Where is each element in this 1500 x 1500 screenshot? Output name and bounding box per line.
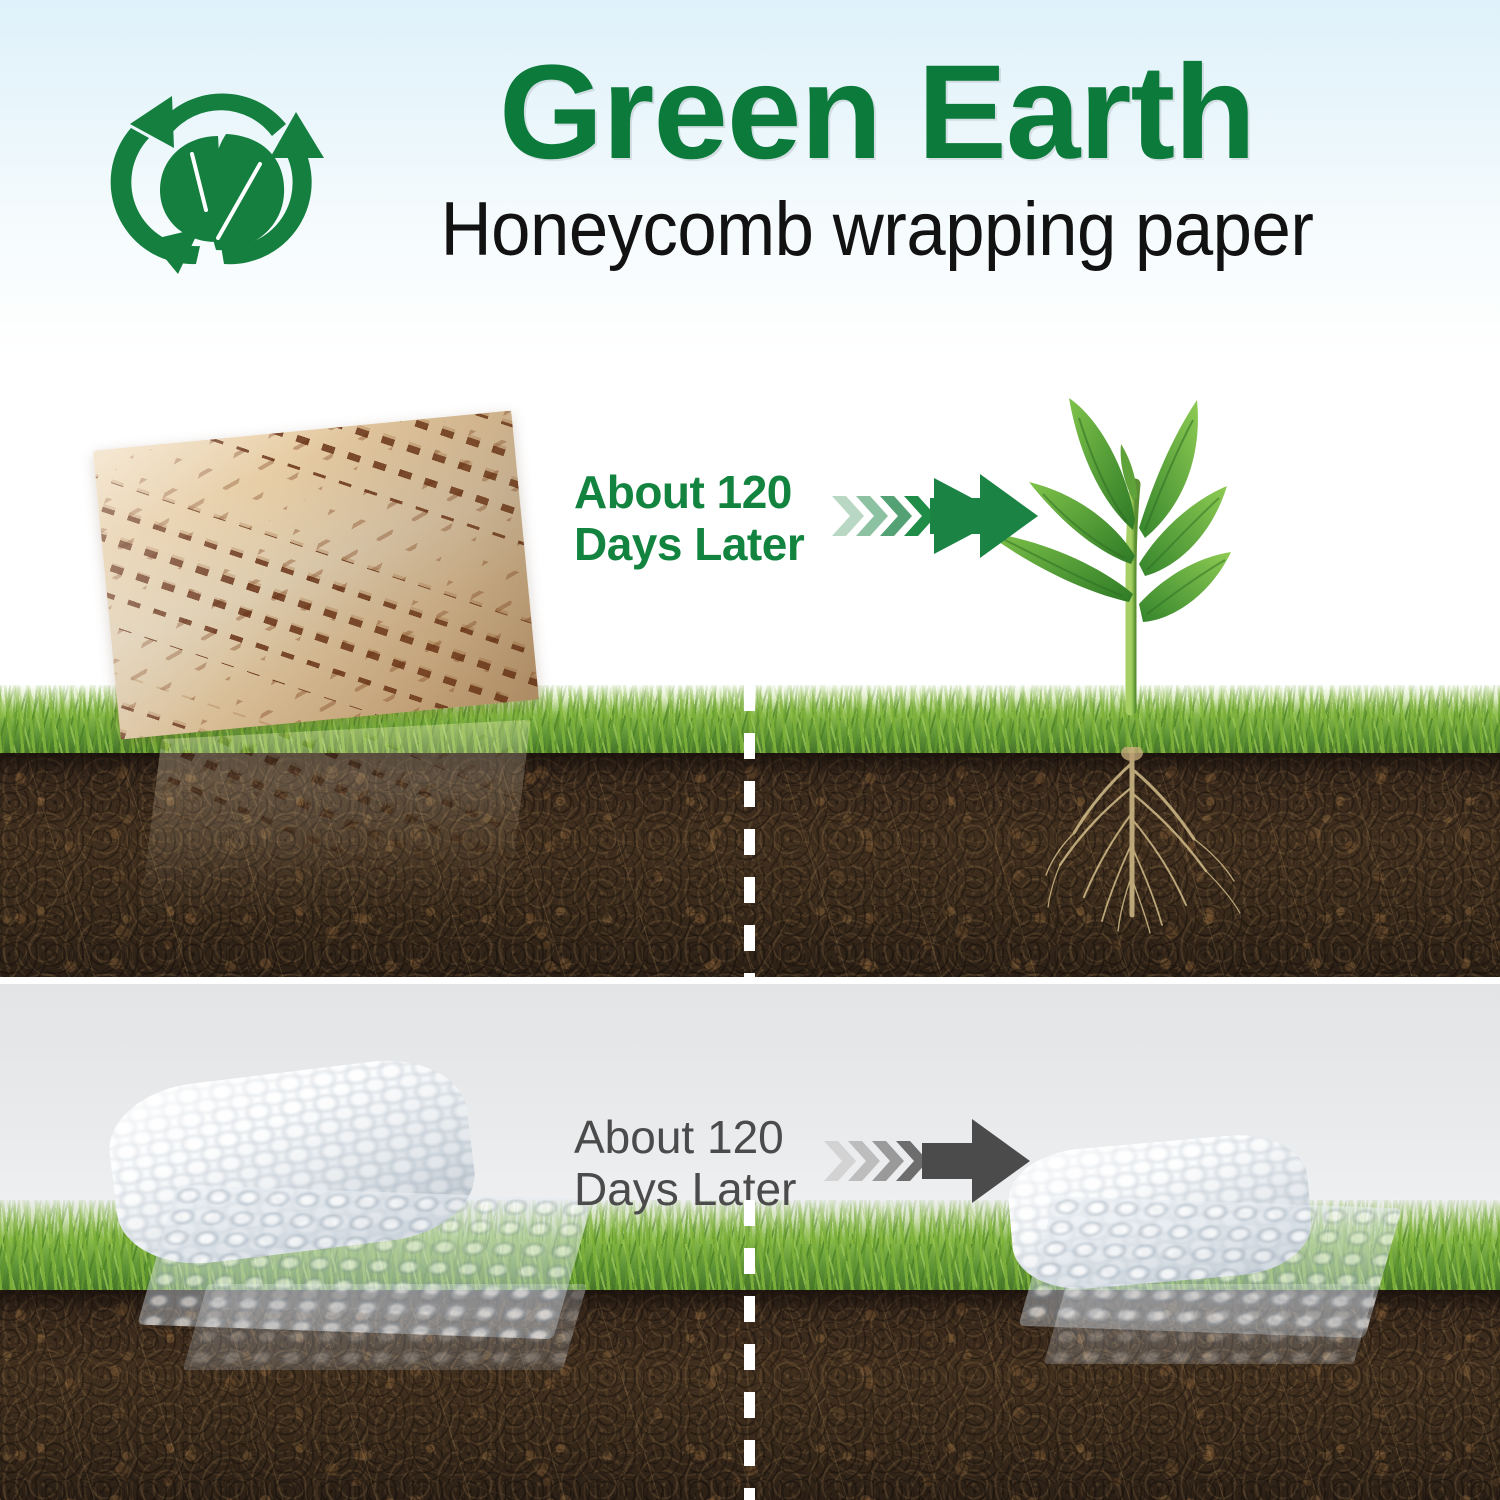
transition-label-line2: Days Later (574, 1164, 796, 1216)
transition-arrow-group-green: About 120 Days Later (574, 467, 1050, 570)
chevron-arrow-right-icon (822, 1113, 1042, 1214)
plant-root-system (1040, 747, 1310, 937)
brand-row: Green Earth Honeycomb wrapping paper (92, 46, 1412, 296)
panel1-dashed-divider (744, 685, 755, 977)
header-banner: Green Earth Honeycomb wrapping paper (0, 0, 1500, 355)
brand-text-block: Green Earth Honeycomb wrapping paper (342, 46, 1412, 270)
transition-arrow-group-gray: About 120 Days Later (574, 1112, 1042, 1215)
transition-label-line2: Days Later (574, 519, 804, 571)
honeycomb-paper-decomposing (139, 720, 531, 921)
product-infographic-poster: Green Earth Honeycomb wrapping paper (0, 0, 1500, 1500)
transition-label-gray: About 120 Days Later (574, 1112, 796, 1215)
panel-biodegradable-honeycomb: About 120 Days Later (0, 355, 1500, 977)
bubble-wrap-buried-left (183, 1284, 588, 1370)
honeycomb-paper-sheet (93, 411, 539, 740)
page-title: Green Earth (342, 46, 1412, 180)
bubble-wrap-buried-right (1044, 1284, 1377, 1364)
transition-label-line1: About 120 (574, 1112, 796, 1164)
transition-label-line1: About 120 (574, 467, 804, 519)
panel-nonbiodegradable-bubblewrap: About 120 Days Later (0, 984, 1500, 1500)
chevron-arrow-right-icon (830, 468, 1050, 569)
page-subtitle: Honeycomb wrapping paper (379, 190, 1374, 270)
transition-label-green: About 120 Days Later (574, 467, 804, 570)
panel2-dashed-divider (744, 1200, 755, 1500)
recycle-leaves-logo-icon (100, 62, 332, 294)
